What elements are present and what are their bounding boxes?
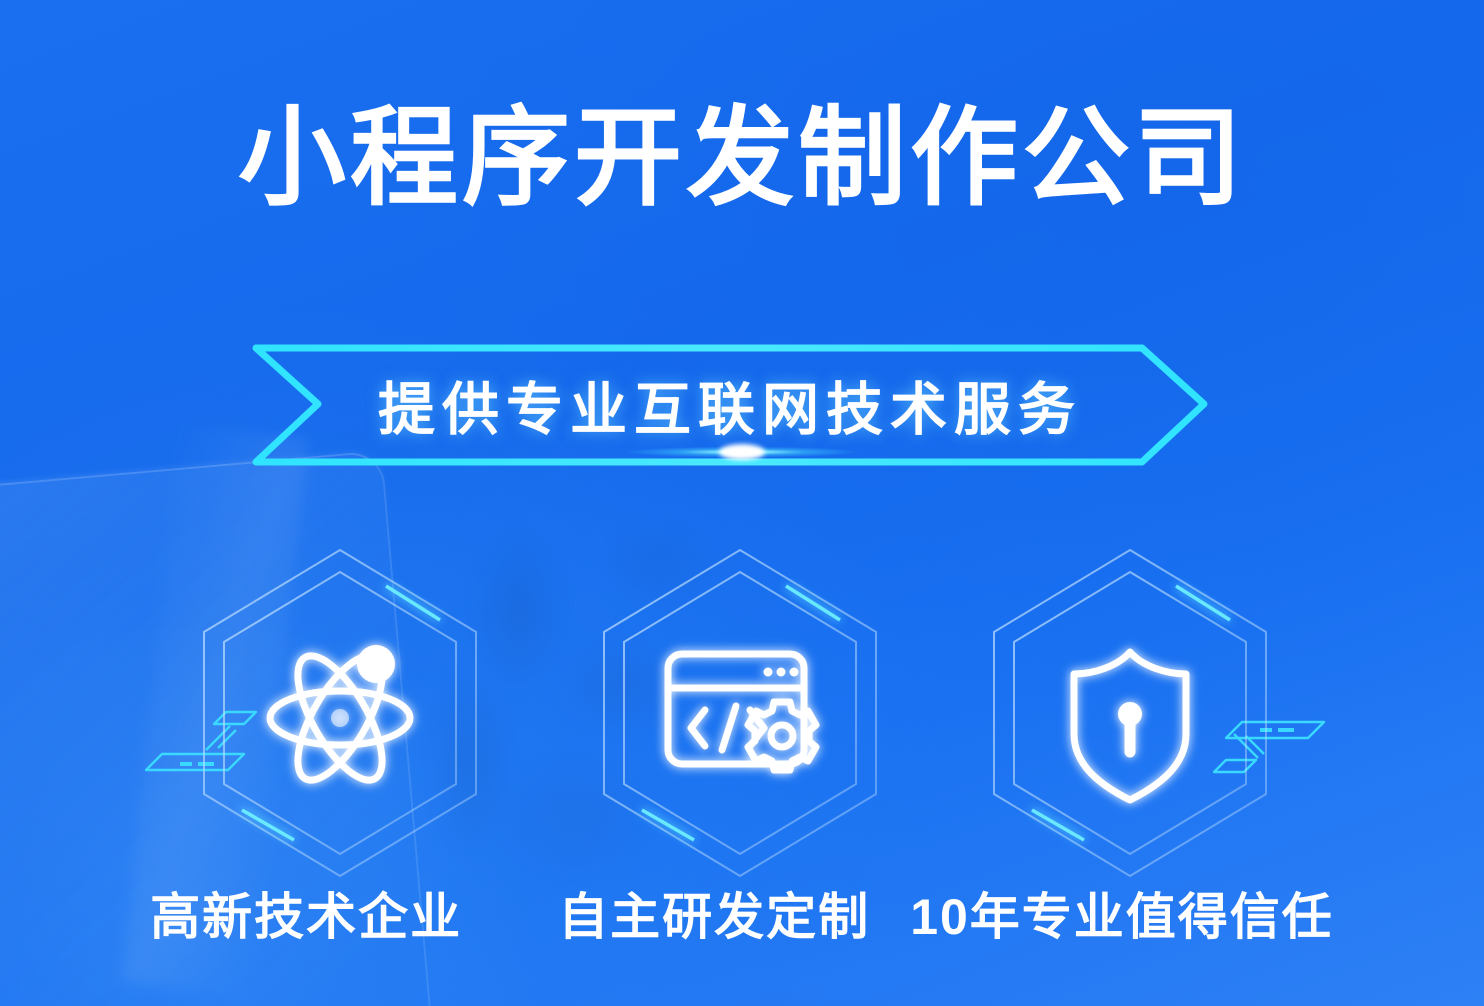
- banner-flare-core: [719, 444, 765, 460]
- code-window-gear-icon: [668, 654, 816, 770]
- promo-banner: 小程序开发制作公司: [0, 0, 1484, 1006]
- feature-list: [0, 548, 1484, 878]
- feature-labels: 高新技术企业 自主研发定制 10年专业值得信任: [0, 886, 1484, 949]
- hexagon-frame-inner: [624, 572, 856, 854]
- feature-item-trusted: [980, 548, 1280, 878]
- feature-label-hi-tech: 高新技术企业: [150, 886, 462, 949]
- feature-item-hi-tech: [190, 548, 490, 878]
- hexagon-frame-outer: [604, 550, 876, 876]
- page-title: 小程序开发制作公司: [0, 104, 1484, 212]
- shield-lock-icon: [1074, 652, 1186, 800]
- feature-item-custom-dev: [590, 548, 890, 878]
- feature-label-custom-dev: 自主研发定制: [558, 886, 870, 949]
- atom-icon: [270, 644, 410, 792]
- feature-label-trusted: 10年专业值得信任: [910, 886, 1334, 949]
- subtitle-banner: 提供专业互联网技术服务: [0, 342, 1484, 490]
